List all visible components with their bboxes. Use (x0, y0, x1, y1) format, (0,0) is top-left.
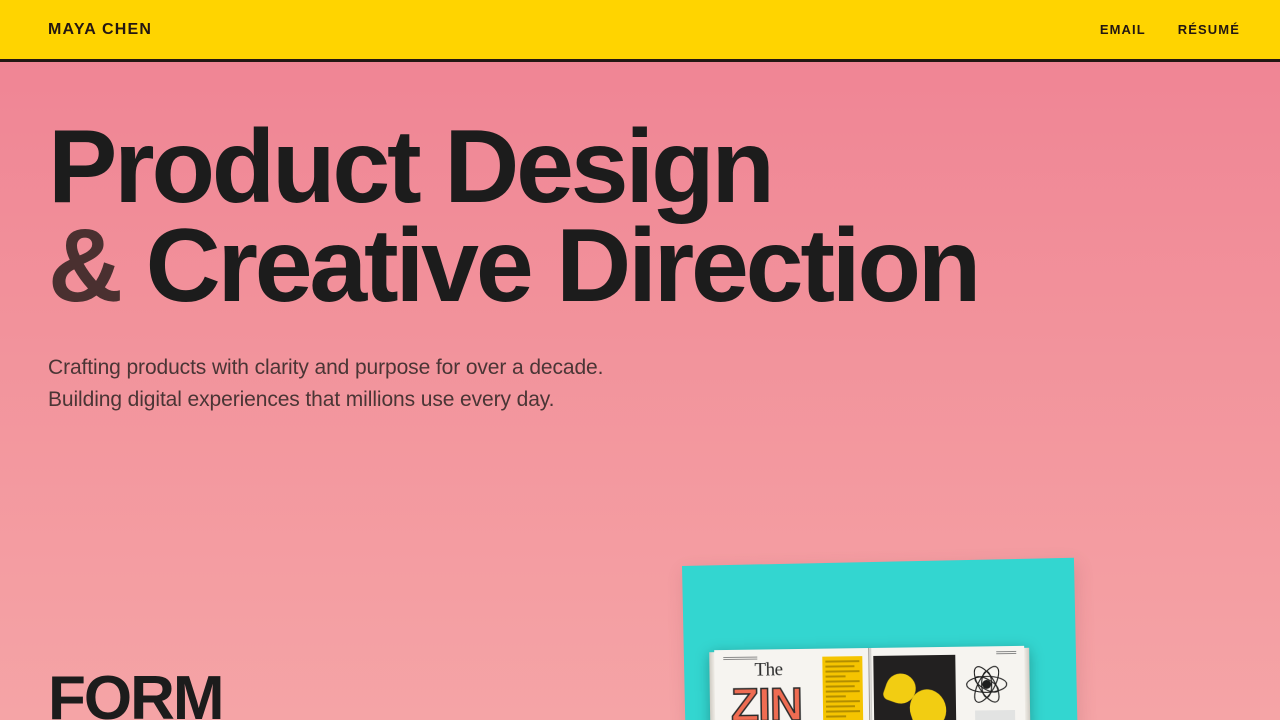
section-heading-form: FORM (48, 668, 223, 720)
page-title: Product Design & Creative Direction (48, 118, 978, 316)
magazine-kicker-lines (723, 657, 757, 661)
hero-artwork: The ZIN (660, 552, 1100, 720)
brand-name[interactable]: MAYA CHEN (48, 21, 152, 39)
magazine-left-page: The ZIN (714, 648, 871, 720)
nav-link-email[interactable]: EMAIL (1100, 22, 1146, 37)
magazine-right-page (869, 646, 1026, 720)
magazine-folio-lines (996, 651, 1016, 655)
subtitle-line-2: Building digital experiences that millio… (48, 388, 554, 411)
page-root: MAYA CHEN EMAIL RÉSUMÉ Product Design & … (0, 0, 1280, 720)
subtitle-line-1: Crafting products with clarity and purpo… (48, 356, 603, 379)
ampersand-accent: & (48, 208, 120, 324)
nav-link-resume[interactable]: RÉSUMÉ (1178, 22, 1240, 37)
magazine-sketch-block (975, 710, 1015, 720)
atom-diagram-icon (964, 662, 1009, 707)
magazine-yellow-sidebar (822, 656, 863, 720)
primary-nav: EMAIL RÉSUMÉ (1100, 22, 1240, 37)
magazine-display-word: ZIN (731, 681, 803, 720)
magazine-black-panel (873, 655, 957, 720)
headline-line-2-text: Creative Direction (120, 208, 978, 324)
site-header: MAYA CHEN EMAIL RÉSUMÉ (0, 0, 1280, 62)
headline-line-2: & Creative Direction (48, 217, 978, 316)
hero-subtitle: Crafting products with clarity and purpo… (48, 352, 978, 417)
open-magazine-photo: The ZIN (714, 646, 1026, 720)
hero-section: Product Design & Creative Direction Craf… (48, 118, 978, 417)
